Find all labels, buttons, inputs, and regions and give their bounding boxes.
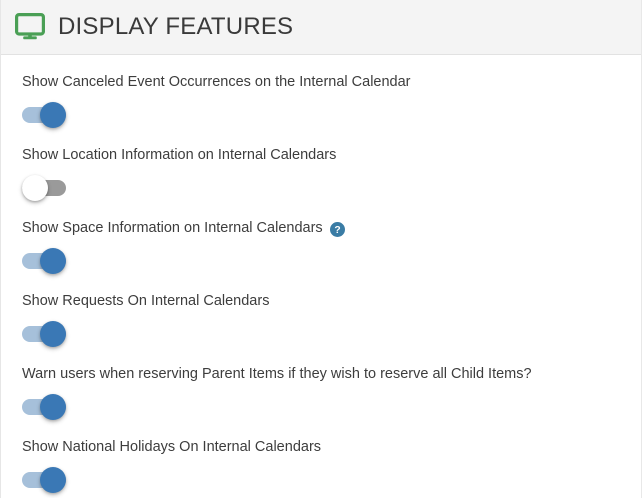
- setting-label-line: Warn users when reserving Parent Items i…: [22, 361, 641, 383]
- display-features-panel: DISPLAY FEATURES Show Canceled Event Occ…: [0, 0, 642, 498]
- setting-label-line: Show National Holidays On Internal Calen…: [22, 434, 641, 456]
- toggle-knob: [40, 467, 66, 493]
- setting-label-line: Show Requests On Internal Calendars: [22, 288, 641, 310]
- setting-label: Show Canceled Event Occurrences on the I…: [22, 71, 411, 93]
- toggle-knob: [22, 175, 48, 201]
- page-title: DISPLAY FEATURES: [58, 13, 293, 41]
- settings-list: Show Canceled Event Occurrences on the I…: [1, 55, 641, 498]
- setting-row: Warn users when reserving Parent Items i…: [1, 361, 641, 434]
- toggle-show-canceled-event-occurrences[interactable]: [22, 102, 74, 128]
- setting-row: Show Space Information on Internal Calen…: [1, 215, 641, 288]
- setting-row: Show National Holidays On Internal Calen…: [1, 434, 641, 498]
- setting-label: Show Requests On Internal Calendars: [22, 290, 269, 312]
- toggle-knob: [40, 394, 66, 420]
- toggle-warn-parent-items[interactable]: [22, 394, 74, 420]
- setting-label: Show National Holidays On Internal Calen…: [22, 436, 321, 458]
- setting-row: Show Canceled Event Occurrences on the I…: [1, 69, 641, 142]
- panel-header: DISPLAY FEATURES: [1, 0, 641, 55]
- setting-label-line: Show Canceled Event Occurrences on the I…: [22, 69, 641, 91]
- toggle-show-requests[interactable]: [22, 321, 74, 347]
- toggle-knob: [40, 321, 66, 347]
- setting-row: Show Requests On Internal Calendars: [1, 288, 641, 361]
- setting-label: Show Location Information on Internal Ca…: [22, 144, 336, 166]
- monitor-icon: [15, 13, 45, 41]
- setting-row: Show Location Information on Internal Ca…: [1, 142, 641, 215]
- setting-label: Show Space Information on Internal Calen…: [22, 217, 323, 239]
- setting-label-line: Show Location Information on Internal Ca…: [22, 142, 641, 164]
- toggle-knob: [40, 102, 66, 128]
- help-circle-icon[interactable]: ?: [330, 221, 345, 236]
- toggle-show-national-holidays[interactable]: [22, 467, 74, 493]
- toggle-show-space-information[interactable]: [22, 248, 74, 274]
- setting-label-line: Show Space Information on Internal Calen…: [22, 215, 641, 237]
- toggle-show-location-information[interactable]: [22, 175, 74, 201]
- setting-label: Warn users when reserving Parent Items i…: [22, 363, 532, 385]
- svg-text:?: ?: [334, 225, 340, 236]
- toggle-knob: [40, 248, 66, 274]
